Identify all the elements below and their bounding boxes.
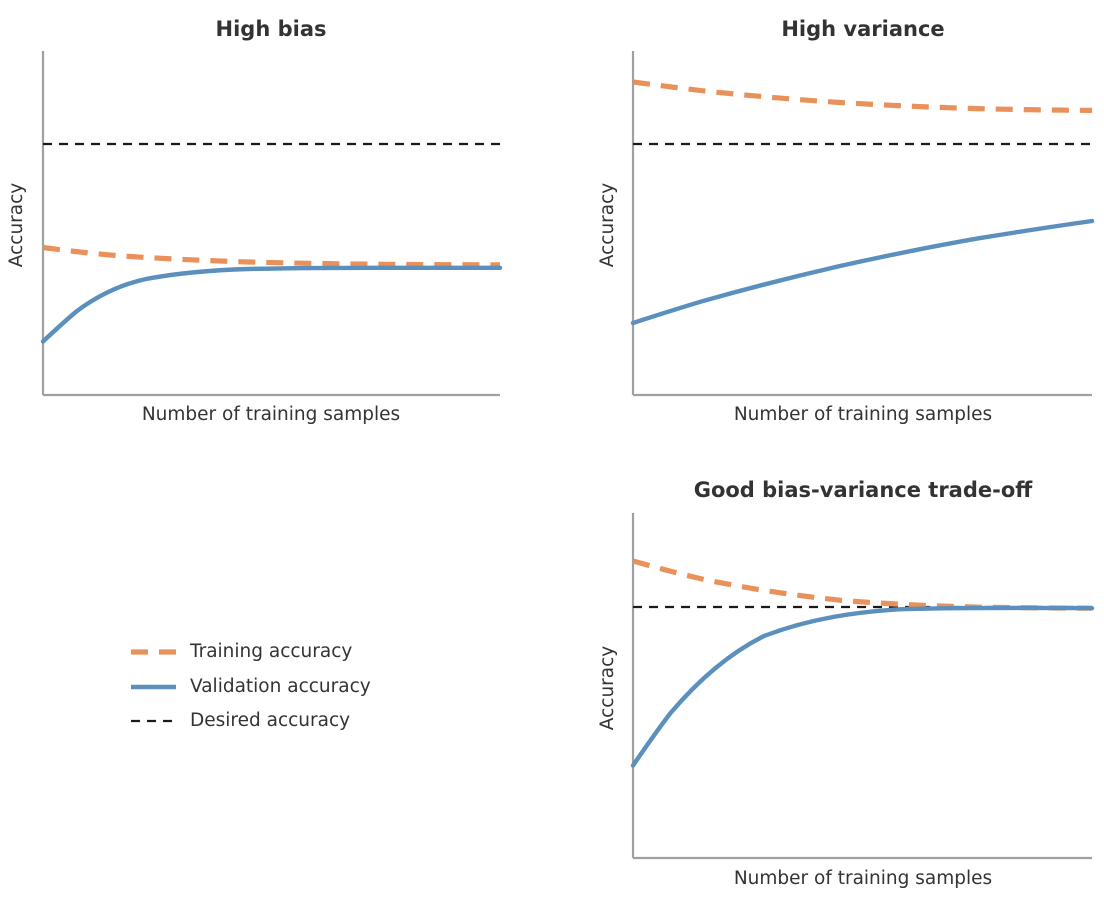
x-axis-label-2: Number of training samples bbox=[734, 404, 992, 425]
panel-title-high-variance: High variance bbox=[781, 17, 944, 41]
legend-item-training-accuracy[interactable]: Training accuracy bbox=[131, 641, 352, 662]
x-axis-label-3: Number of training samples bbox=[734, 868, 992, 889]
legend-item-validation-accuracy[interactable]: Validation accuracy bbox=[131, 676, 371, 697]
learning-curves-figure: High bias High variance Good bias-varian… bbox=[0, 0, 1104, 903]
y-axis-label-2: Accuracy bbox=[597, 183, 618, 268]
validation-accuracy-curve-2 bbox=[633, 221, 1092, 323]
y-axis-label-3: Accuracy bbox=[597, 646, 618, 731]
y-axis-label-1: Accuracy bbox=[6, 183, 27, 268]
validation-accuracy-curve-1 bbox=[43, 268, 500, 342]
validation-accuracy-curve-3 bbox=[633, 608, 1092, 766]
legend-label-desired-accuracy: Desired accuracy bbox=[190, 710, 350, 731]
panel-good-trade-off: Good bias-variance trade-off bbox=[633, 478, 1092, 858]
training-accuracy-curve-2 bbox=[633, 82, 1092, 110]
panel-high-bias: High bias bbox=[43, 17, 500, 395]
legend: Training accuracy Validation accuracy De… bbox=[131, 641, 371, 731]
training-accuracy-curve-3 bbox=[633, 561, 1092, 608]
legend-label-validation-accuracy: Validation accuracy bbox=[190, 676, 371, 697]
panel-title-good-trade-off: Good bias-variance trade-off bbox=[694, 478, 1034, 502]
legend-label-training-accuracy: Training accuracy bbox=[189, 641, 352, 662]
panel-high-variance: High variance bbox=[633, 17, 1092, 395]
training-accuracy-curve-1 bbox=[43, 248, 500, 265]
figure-canvas: High bias High variance Good bias-varian… bbox=[0, 0, 1104, 903]
panel-title-high-bias: High bias bbox=[216, 17, 327, 41]
x-axis-label-1: Number of training samples bbox=[142, 404, 400, 425]
legend-item-desired-accuracy[interactable]: Desired accuracy bbox=[131, 710, 350, 731]
